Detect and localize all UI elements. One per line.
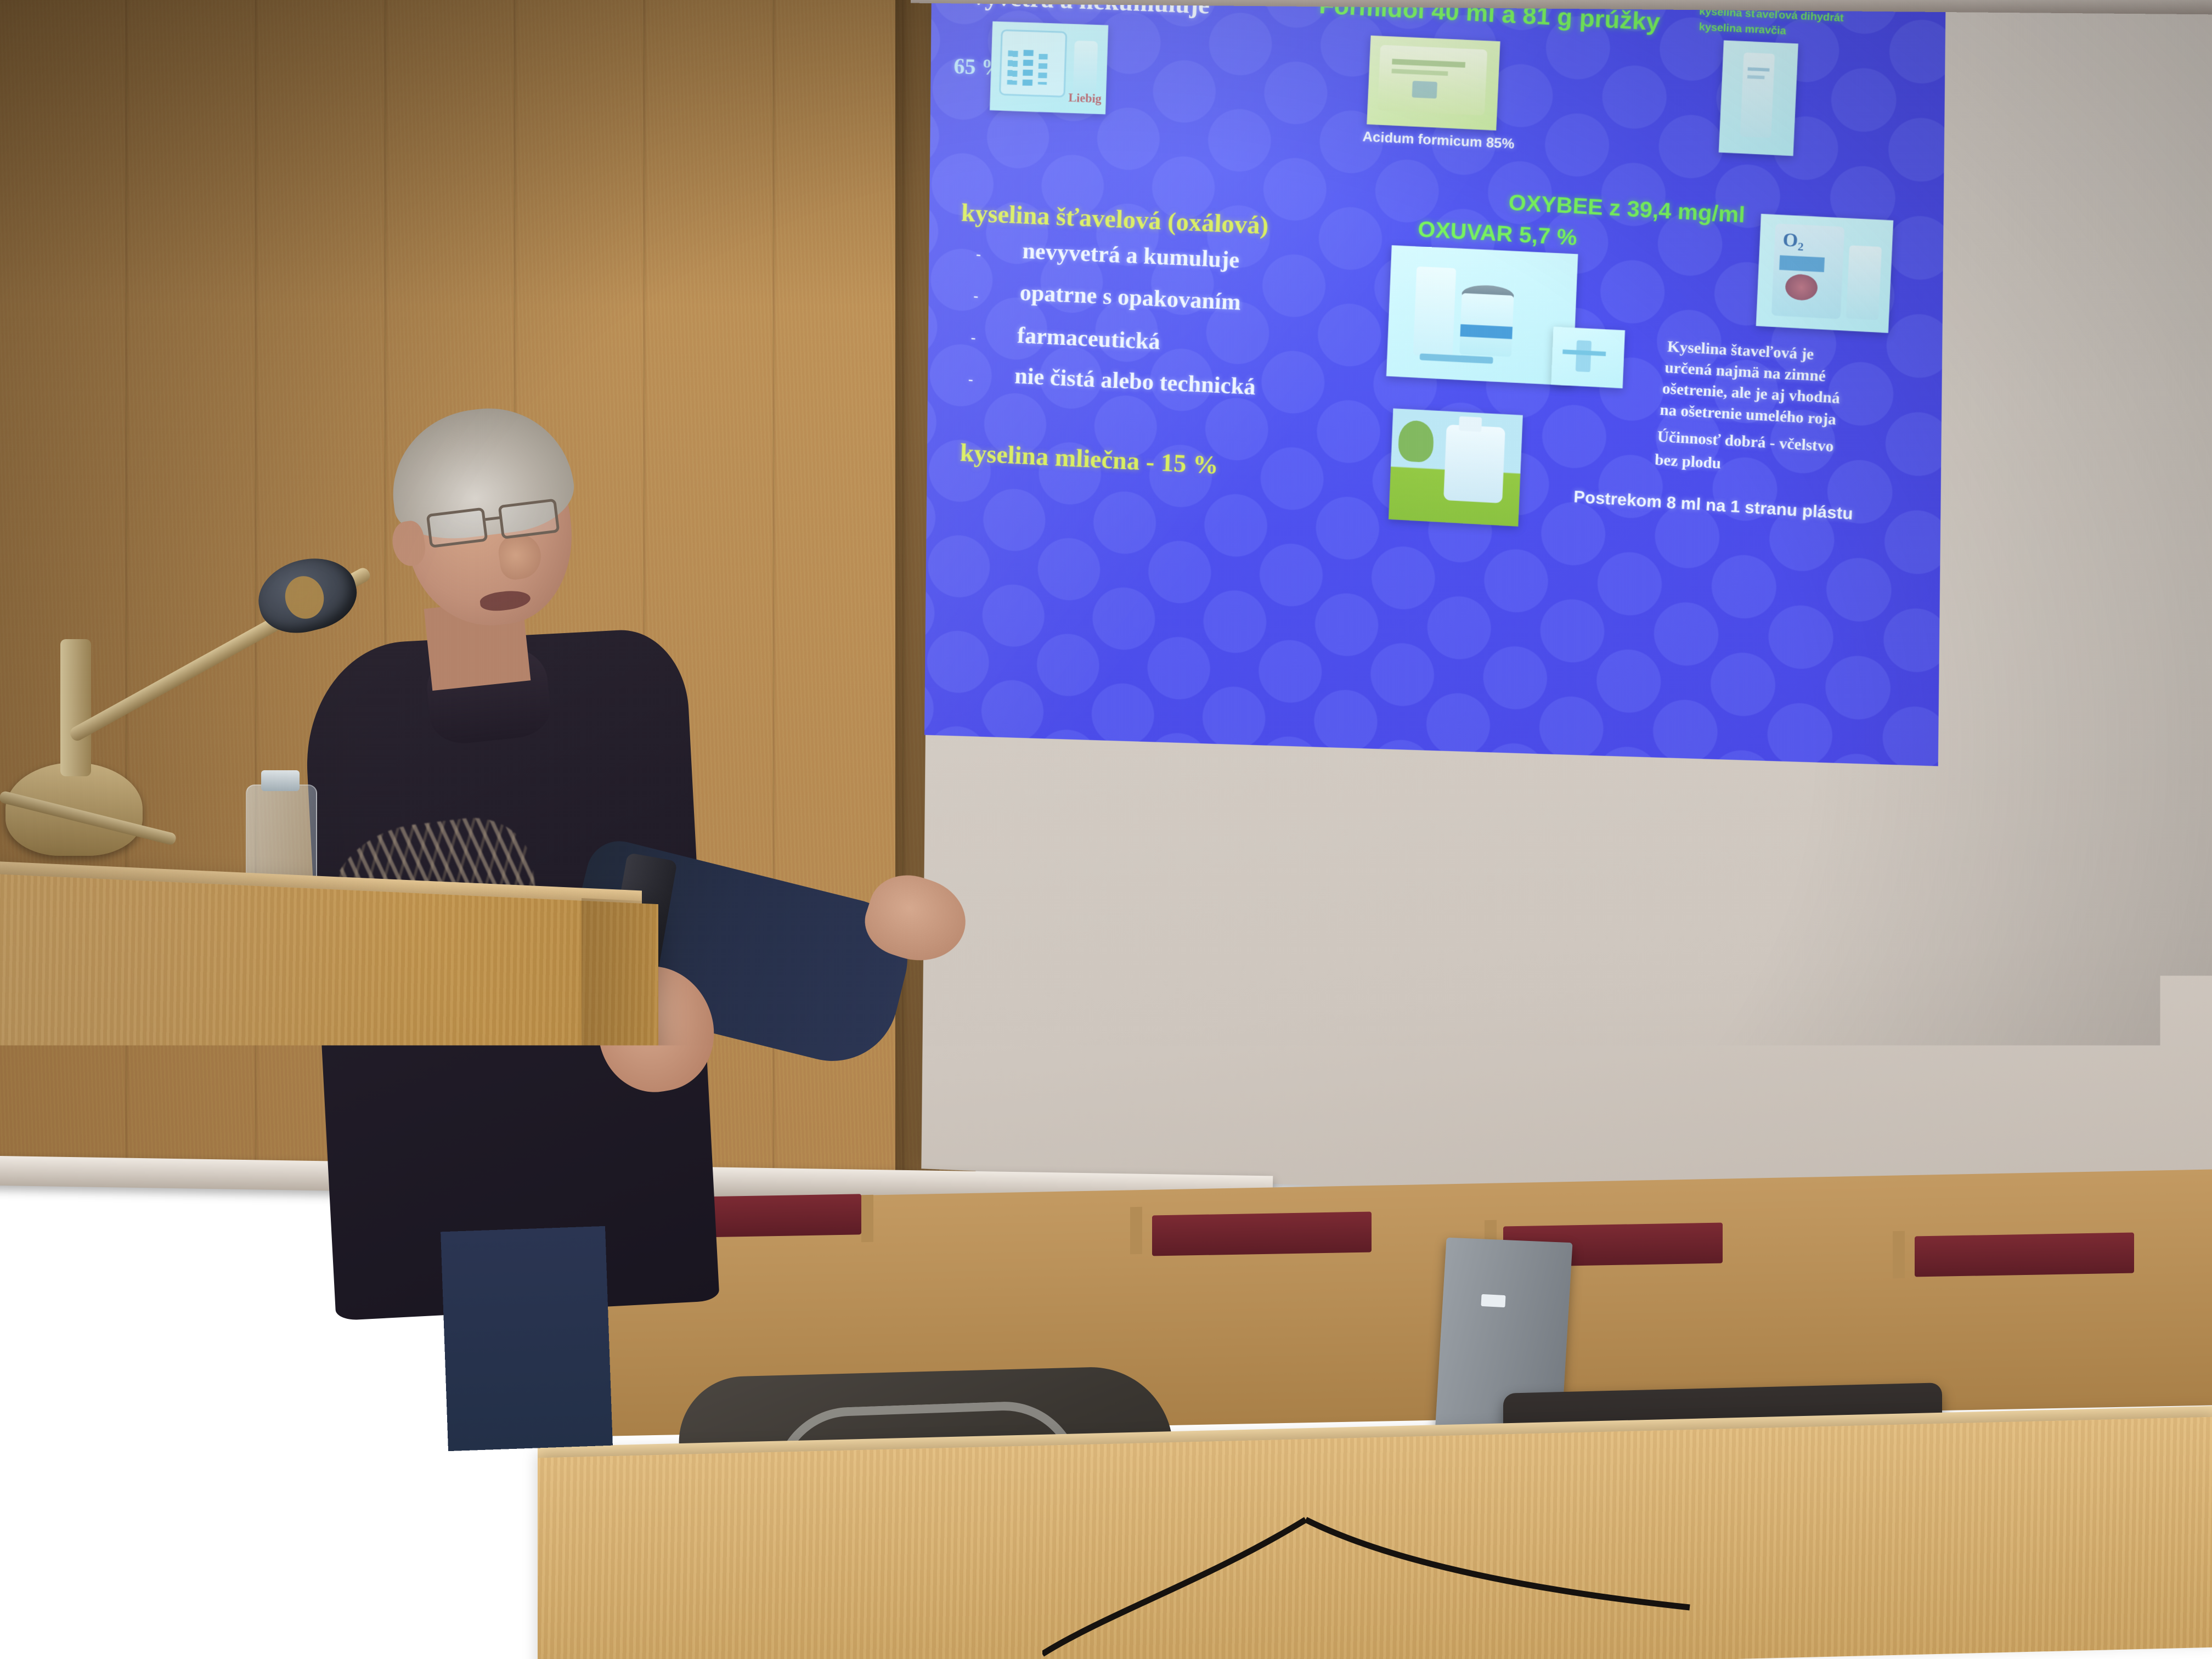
eyeglass-lens-right bbox=[498, 498, 560, 539]
auditorium-seat bbox=[1915, 1233, 2134, 1277]
photo-scene: kyselina mravčia - vyvetrá a nekumuluje … bbox=[0, 0, 2212, 1659]
auditorium-seat bbox=[1152, 1212, 1372, 1256]
laptop-logo bbox=[1481, 1294, 1505, 1307]
power-cable bbox=[1042, 1514, 1920, 1659]
presentation-slide: kyselina mravčia - vyvetrá a nekumuluje … bbox=[924, 0, 1946, 766]
podium-right-edge-shadow bbox=[582, 898, 653, 1659]
microphone-stand-post bbox=[60, 639, 91, 776]
seat-divider bbox=[1893, 1231, 1905, 1278]
seat-divider bbox=[1130, 1207, 1142, 1254]
eyeglass-bridge bbox=[485, 516, 500, 521]
podium-grain bbox=[0, 873, 658, 1659]
water-bottle-cap bbox=[261, 770, 300, 791]
slide-projector-glare bbox=[924, 0, 1946, 766]
eyeglass-lens-left bbox=[426, 507, 488, 548]
projection-screen: kyselina mravčia - vyvetrá a nekumuluje … bbox=[921, 0, 2212, 1251]
wooden-podium bbox=[0, 873, 658, 1659]
